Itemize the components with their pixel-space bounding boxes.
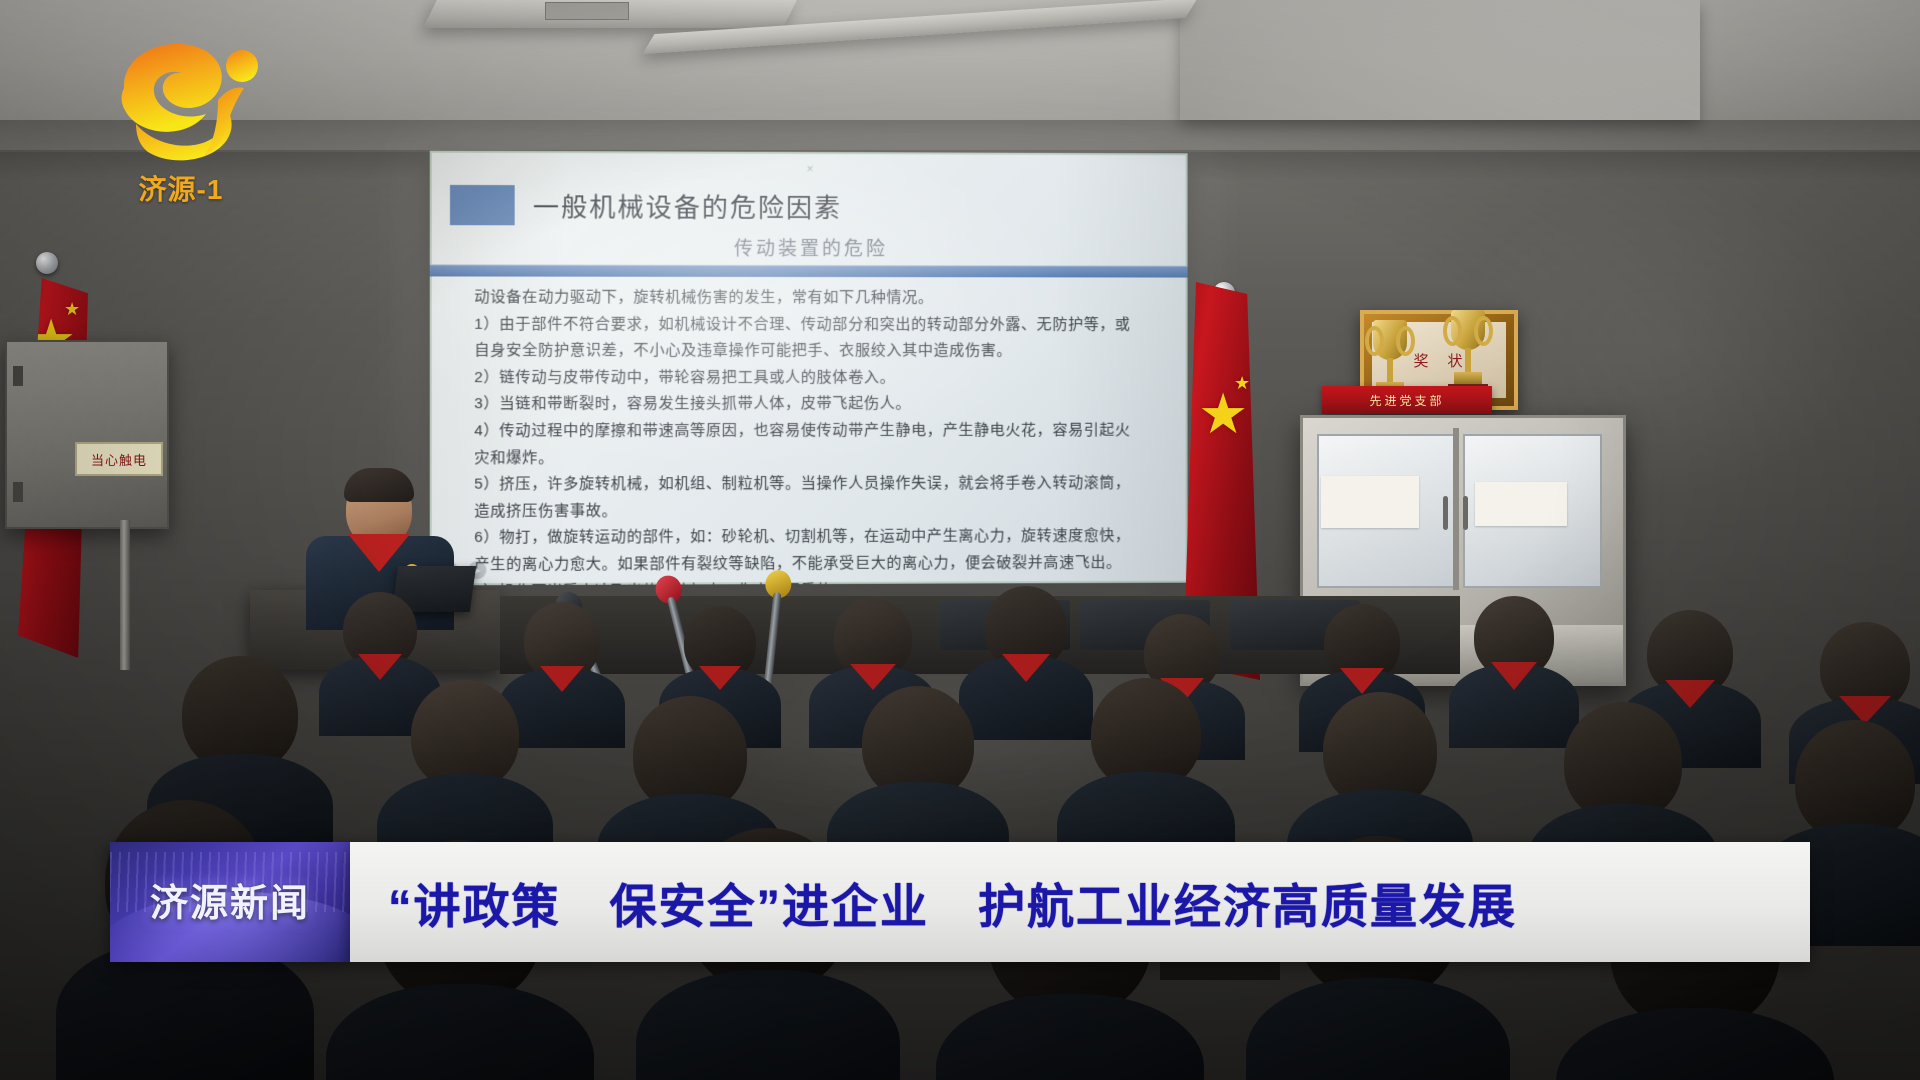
cabinet-handle[interactable]: [1443, 496, 1448, 530]
ceiling-beam: [1180, 0, 1700, 120]
slide-rule: [430, 264, 1188, 277]
slide-list-item: 灾和爆炸。: [474, 444, 1162, 471]
slide-intro: 动设备在动力驱动下，旋转机械伤害的发生，常有如下几种情况。: [474, 285, 1162, 311]
slide-list-item: 5）挤压，许多旋转机械，如机组、制粒机等。当操作人员操作失误，就会将手卷入转动滚…: [474, 471, 1162, 498]
cabinet-document: [1321, 476, 1419, 528]
flag-star-icon: ★: [1234, 374, 1250, 392]
slide-list-item: 4）传动过程中的摩擦和带速高等原因，也容易使传动带产生静电，产生静电火花，容易引…: [474, 418, 1162, 444]
ceiling-vent: [545, 2, 629, 20]
slide-subtitle: 传动装置的危险: [430, 233, 1188, 261]
slide-list-item: 自身安全防护意识差，不小心及违章操作可能把手、衣服绞入其中造成伤害。: [474, 338, 1162, 364]
flag-star-icon: ★: [64, 300, 80, 318]
slide-title-row: 一般机械设备的危险因素: [450, 185, 842, 226]
cabinet-hinge: [13, 482, 23, 502]
flag-star-icon: ★: [1198, 386, 1248, 442]
cabinet-handle[interactable]: [1463, 496, 1468, 530]
slide-list-item: 造成挤压伤害事故。: [474, 497, 1162, 524]
program-bug-label: 济源新闻: [110, 872, 350, 927]
lower-third: 济源新闻 “讲政策 保安全”进企业 护航工业经济高质量发展: [110, 842, 1810, 962]
slide-list-item: 3）当链和带断裂时，容易发生接头抓带人体，皮带飞起伤人。: [474, 391, 1162, 417]
program-bug: 济源新闻: [110, 842, 350, 962]
headline-bar: “讲政策 保安全”进企业 护航工业经济高质量发展: [350, 842, 1810, 962]
cabinet-document: [1475, 482, 1567, 526]
slide-body: 动设备在动力驱动下，旋转机械伤害的发生，常有如下几种情况。 1）由于部件不符合要…: [474, 285, 1162, 586]
slide-list-item: 1）由于部件不符合要求，如机械设计不合理、传动部分和突出的转动部分外露、无防护等…: [474, 311, 1162, 337]
slide-list-item: 6）物打，做旋转运动的部件，如：砂轮机、切割机等，在运动中产生离心力，旋转速度愈…: [474, 523, 1162, 550]
projection-screen: × 一般机械设备的危险因素 传动装置的危险 动设备在动力驱动下，旋转机械伤害的发…: [430, 151, 1188, 586]
flag-pole-knob: [36, 252, 58, 274]
headline-text: “讲政策 保安全”进企业 护航工业经济高质量发展: [388, 868, 1517, 937]
slide-watermark: ×: [806, 162, 815, 176]
jiyuan-swirl-logo-icon: [96, 28, 266, 178]
electrical-cabinet: 当心触电: [5, 340, 169, 529]
cabinet-hinge: [13, 366, 23, 386]
slide-title: 一般机械设备的危险因素: [533, 187, 842, 225]
channel-logo: 济源-1: [96, 28, 266, 198]
broadcast-frame: × 一般机械设备的危险因素 传动装置的危险 动设备在动力驱动下，旋转机械伤害的发…: [0, 0, 1920, 1080]
slide-title-chip: [450, 185, 515, 225]
audience: [0, 560, 1920, 1080]
award-banner: 先进党支部: [1322, 386, 1492, 414]
channel-logo-label: 济源-1: [96, 168, 266, 208]
warning-sign: 当心触电: [75, 442, 163, 476]
slide-list-item: 2）链传动与皮带传动中，带轮容易把工具或人的肢体卷入。: [474, 365, 1162, 391]
